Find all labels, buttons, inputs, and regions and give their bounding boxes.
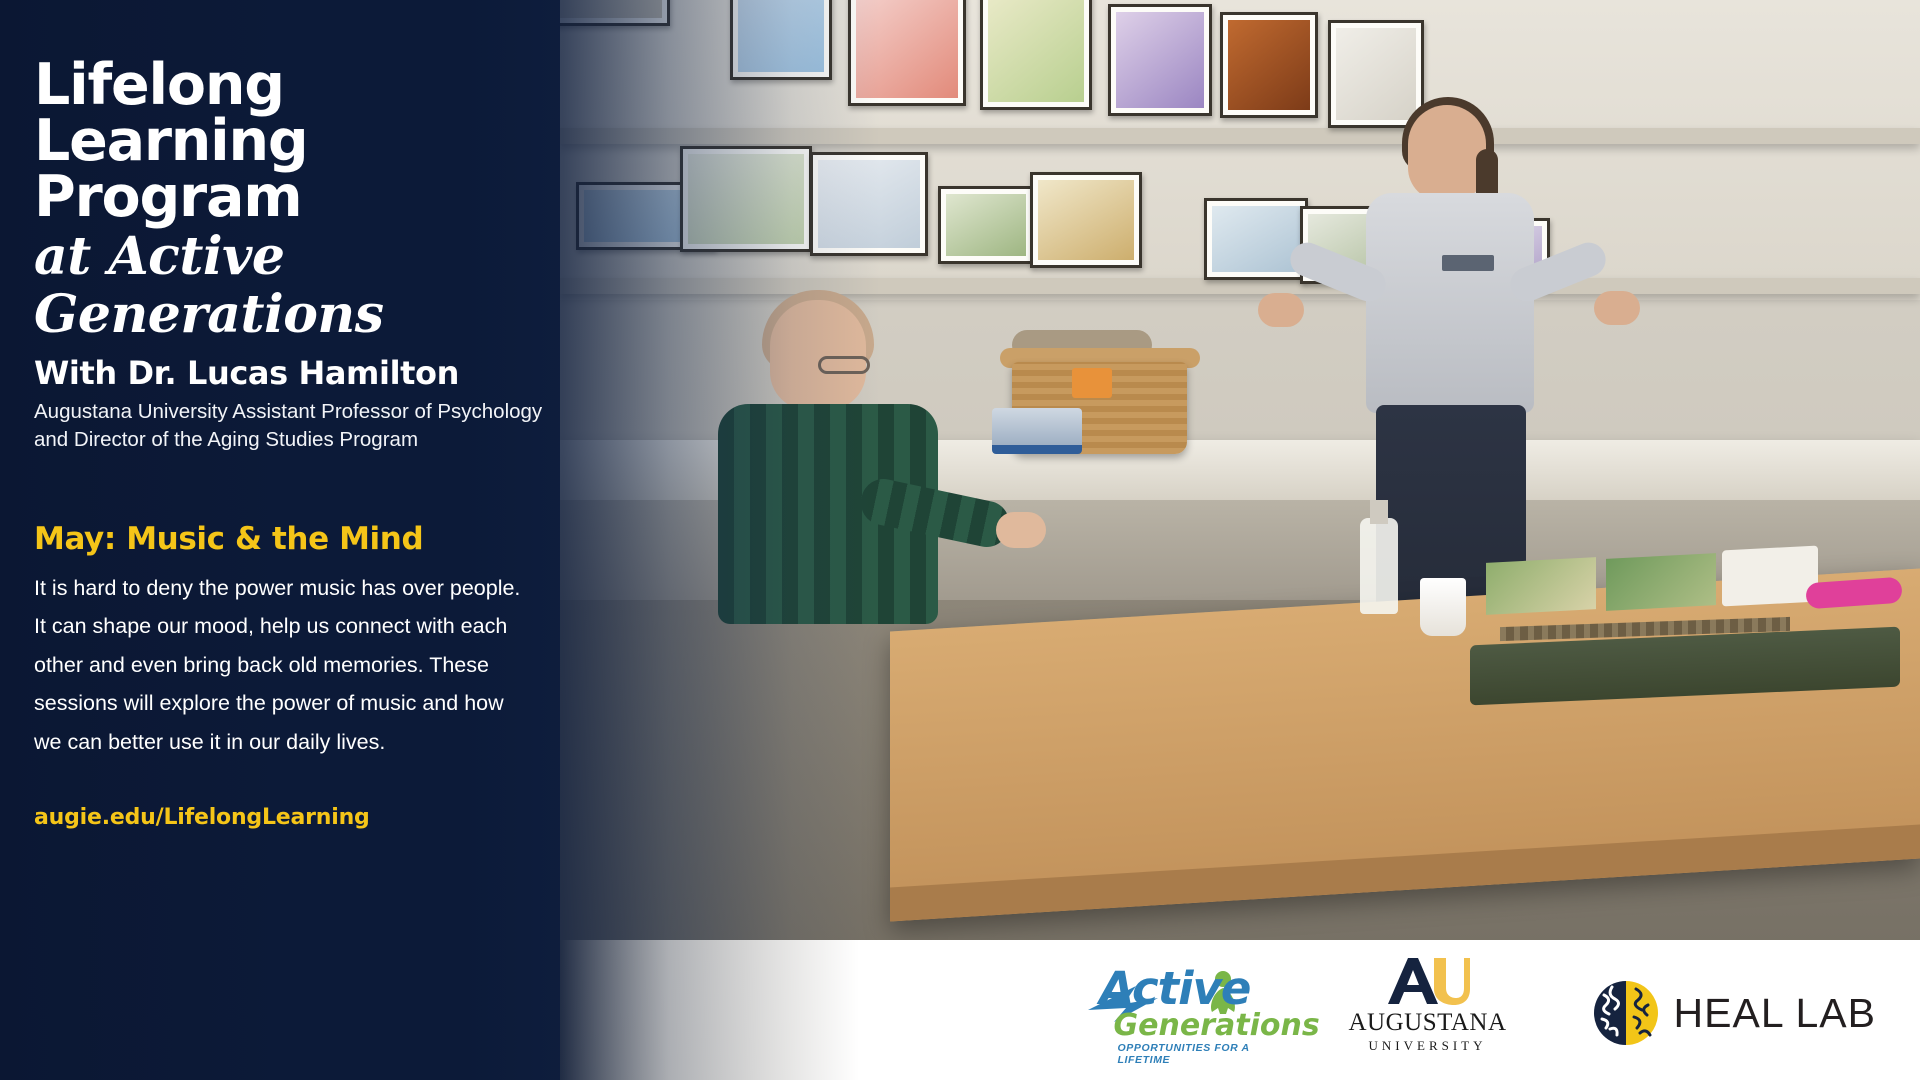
framed-artwork — [1030, 172, 1142, 268]
au-monogram-icon — [1384, 956, 1472, 1006]
presenter-shirt-logo — [1442, 255, 1494, 271]
presenter-left-hand — [1258, 293, 1304, 327]
page-title: Lifelong Learning Program — [34, 58, 586, 226]
session-heading: May: Music & the Mind — [34, 521, 586, 557]
body-line-4: sessions will explore the power of music… — [34, 684, 586, 722]
presenter-head — [1408, 105, 1486, 201]
brain-icon — [1590, 977, 1662, 1049]
credential-line-1: Augustana University Assistant Professor… — [34, 398, 586, 425]
blue-container — [992, 408, 1082, 454]
framed-artwork — [1108, 4, 1212, 116]
body-line-2: It can shape our mood, help us connect w… — [34, 607, 586, 645]
logo-bar: Active Generations OPPORTUNITIES FOR A L… — [560, 940, 1920, 1080]
presenter-name: With Dr. Lucas Hamilton — [34, 354, 586, 392]
presenter-torso — [1366, 193, 1534, 413]
text-panel: Lifelong Learning Program at Active Gene… — [0, 0, 620, 1080]
active-generations-logo: Active Generations OPPORTUNITIES FOR A L… — [1088, 964, 1266, 1056]
script-subtitle: at Active Generations — [34, 228, 586, 344]
promotional-poster: Lifelong Learning Program at Active Gene… — [0, 0, 1920, 1080]
framed-artwork — [1220, 12, 1318, 118]
title-line-1: Lifelong — [34, 58, 586, 114]
logo-tagline: OPPORTUNITIES FOR A LIFETIME — [1118, 1042, 1266, 1066]
spray-bottle — [1360, 518, 1398, 614]
watercolor-painting — [1486, 557, 1596, 615]
framed-artwork — [938, 186, 1034, 264]
credential-line-2: and Director of the Aging Studies Progra… — [34, 426, 586, 453]
session-description: It is hard to deny the power music has o… — [34, 569, 586, 761]
heal-lab-text: HEAL LAB — [1674, 990, 1876, 1037]
heal-lab-logo: HEAL LAB — [1590, 970, 1876, 1056]
watercolor-painting — [1606, 553, 1716, 611]
presenter-right-hand — [1594, 291, 1640, 325]
participant-hand — [996, 512, 1046, 548]
augustana-logo: AUGUSTANA UNIVERSITY — [1344, 956, 1512, 1056]
body-line-1: It is hard to deny the power music has o… — [34, 569, 586, 607]
paper-cup — [1420, 578, 1466, 636]
logo-word-generations: Generations — [1114, 1008, 1320, 1043]
framed-artwork — [980, 0, 1092, 110]
tissue-box — [1722, 545, 1818, 606]
orange-package — [1072, 368, 1112, 398]
website-url[interactable]: augie.edu/LifelongLearning — [34, 805, 586, 830]
augustana-name: AUGUSTANA — [1344, 1010, 1512, 1035]
body-line-5: we can better use it in our daily lives. — [34, 723, 586, 761]
body-line-3: other and even bring back old memories. … — [34, 646, 586, 684]
title-line-2: Learning Program — [34, 114, 586, 226]
logo-row: Active Generations OPPORTUNITIES FOR A L… — [1088, 956, 1876, 1056]
spray-nozzle — [1370, 500, 1388, 524]
presenter-credentials: Augustana University Assistant Professor… — [34, 398, 586, 453]
augustana-sub: UNIVERSITY — [1344, 1038, 1512, 1054]
